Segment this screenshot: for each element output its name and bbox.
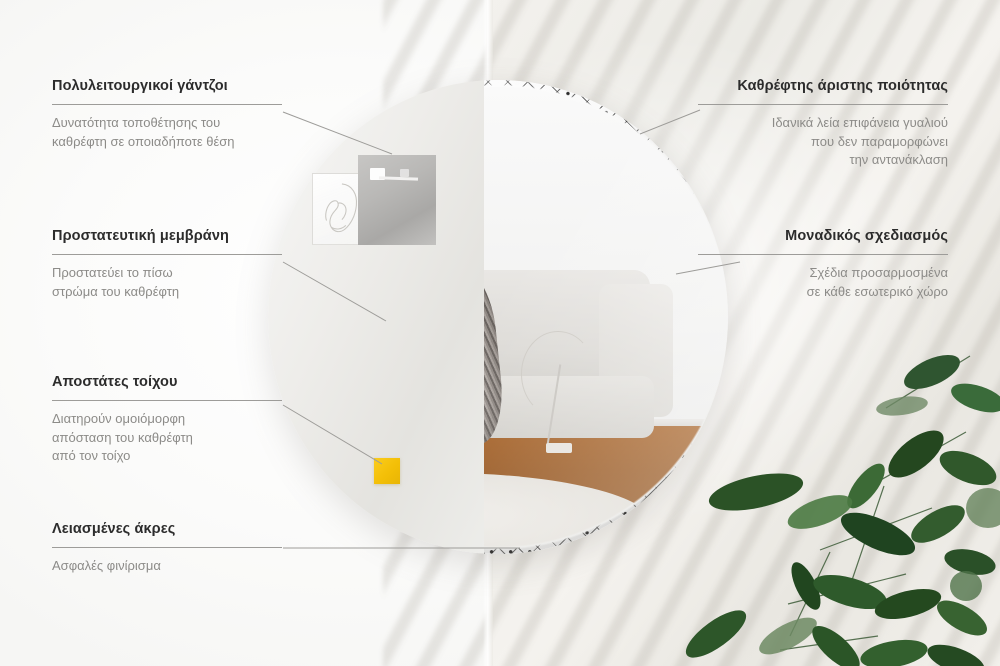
hook-bar bbox=[379, 176, 418, 180]
callout-description: Δυνατότητα τοποθέτησης του καθρέφτη σε ο… bbox=[52, 114, 282, 151]
callout-description: Προστατεύει το πίσω στρώμα του καθρέφτη bbox=[52, 264, 282, 301]
wall-spacer-chip bbox=[374, 458, 400, 484]
callout-rule bbox=[52, 104, 282, 105]
callout-rule bbox=[698, 104, 948, 105]
foliage-decoration bbox=[670, 336, 1000, 666]
callout-rule bbox=[52, 254, 282, 255]
leaf-branches-illustration bbox=[670, 336, 1000, 666]
feature-diagram-canvas: Πολυλειτουργικοί γάντζοι Δυνατότητα τοπο… bbox=[0, 0, 1000, 666]
round-mirror-product bbox=[268, 80, 728, 554]
mirror-disc bbox=[268, 80, 728, 554]
callout-protective-membrane[interactable]: Προστατευτική μεμβράνη Προστατεύει το πί… bbox=[52, 228, 282, 301]
callout-description: Ιδανικά λεία επιφάνεια γυαλιού που δεν π… bbox=[698, 114, 948, 169]
callout-description: Σχέδια προσαρμοσμένα σε κάθε εσωτερικό χ… bbox=[698, 264, 948, 301]
callout-title: Πολυλειτουργικοί γάντζοι bbox=[52, 78, 282, 95]
callout-rule bbox=[52, 547, 282, 548]
callout-title: Καθρέφτης άριστης ποιότητας bbox=[698, 78, 948, 95]
callout-wall-spacers[interactable]: Αποστάτες τοίχου Διατηρούν ομοιόμορφη απ… bbox=[52, 374, 282, 466]
hook-tip bbox=[400, 169, 409, 177]
mounting-hook-icon bbox=[370, 168, 418, 182]
callout-top-quality-mirror[interactable]: Καθρέφτης άριστης ποιότητας Ιδανικά λεία… bbox=[698, 78, 948, 170]
callout-rule bbox=[52, 400, 282, 401]
callout-description: Ασφαλές φινίρισμα bbox=[52, 557, 282, 575]
callout-title: Προστατευτική μεμβράνη bbox=[52, 228, 282, 245]
callout-unique-design[interactable]: Μοναδικός σχεδιασμός Σχέδια προσαρμοσμέν… bbox=[698, 228, 948, 301]
callout-rule bbox=[698, 254, 948, 255]
callout-smoothed-edges[interactable]: Λειασμένες άκρες Ασφαλές φινίρισμα bbox=[52, 521, 282, 576]
callout-description: Διατηρούν ομοιόμορφη απόσταση του καθρέφ… bbox=[52, 410, 282, 465]
callout-title: Λειασμένες άκρες bbox=[52, 521, 282, 538]
callout-multifunctional-hooks[interactable]: Πολυλειτουργικοί γάντζοι Δυνατότητα τοπο… bbox=[52, 78, 282, 151]
callout-title: Αποστάτες τοίχου bbox=[52, 374, 282, 391]
callout-title: Μοναδικός σχεδιασμός bbox=[698, 228, 948, 245]
